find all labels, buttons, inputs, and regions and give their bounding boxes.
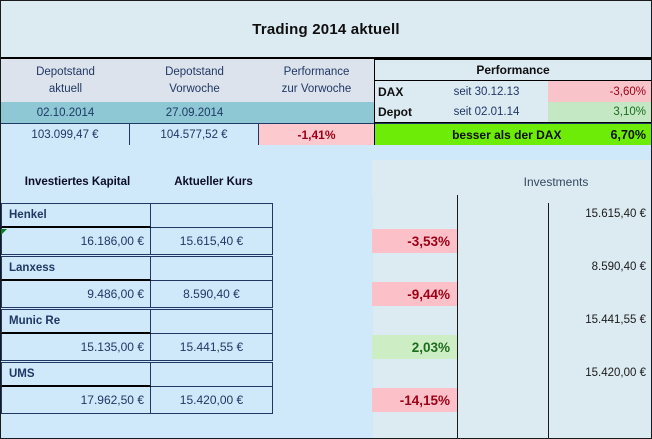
table-header-current-price: Aktueller Kurs [153,160,274,203]
performance-row-pct: 3,10% [548,102,651,122]
table-row[interactable]: UMS [1,362,151,387]
summary-header-line2: aktuell [49,81,82,98]
table-cell-pct: -9,44% [372,282,457,306]
table-row-blank [151,256,273,281]
table-header-row: Investiertes Kapital Aktueller Kurs Inve… [1,160,651,203]
summary-header-row: Depotstand aktuell Depotstand Vorwoche P… [1,59,374,102]
summary-date-blank [259,102,374,123]
summary-spacer-band-right [374,145,651,160]
table-cell-pct: -14,15% [372,388,457,412]
summary-date-row: 02.10.2014 27.09.2014 [1,102,374,123]
table-cell-investment: 8.590,40 € [551,257,649,277]
summary-header-line2: zur Vorwoche [282,81,352,98]
table-cell-kurs[interactable]: 15.420,00 € [151,387,273,414]
table-row[interactable]: Munic Re [1,309,151,334]
table-cell-invested[interactable]: 16.186,00 € [1,228,151,255]
performance-total-label: besser als der DAX [375,128,611,142]
summary-header-line2: Vorwoche [169,81,220,98]
table-row-blank [151,362,273,387]
table-header-invested: Investiertes Kapital [4,160,151,203]
performance-total-row: besser als der DAX 6,70% [375,123,651,145]
error-indicator-icon [1,229,7,235]
performance-title: Performance [375,60,651,81]
performance-row-pct: -3,60% [548,81,651,102]
table-row[interactable]: Henkel [1,203,151,228]
spreadsheet-canvas: Trading 2014 aktuell Depotstand aktuell … [0,0,652,439]
summary-date-previous: 27.09.2014 [130,102,259,123]
performance-block: Performance DAX seit 30.12.13 -3,60% Dep… [374,59,651,145]
table-header-investments: Investments [461,160,651,203]
table-cell-pct: -3,53% [372,229,457,253]
table-cell-investment: 15.441,55 € [551,310,649,330]
summary-header-depotstand-vorwoche: Depotstand Vorwoche [130,59,259,102]
summary-date-current: 02.10.2014 [1,102,130,123]
summary-value-current: 103.099,47 € [1,124,130,146]
table-cell-kurs[interactable]: 15.615,40 € [151,228,273,255]
table-cell-invested[interactable]: 17.962,50 € [1,387,151,414]
table-row-blank [151,309,273,334]
summary-block: Depotstand aktuell Depotstand Vorwoche P… [1,59,374,145]
summary-header-line1: Depotstand [165,64,224,81]
performance-row-since: seit 30.12.13 [425,81,548,102]
table-header-blank-cell [372,160,458,195]
table-cell-investment: 15.420,00 € [551,363,649,383]
sheet-title-band: Trading 2014 aktuell [1,1,651,59]
table-cell-investment: 15.615,40 € [551,204,649,224]
column-divider-right [548,203,549,438]
table-cell-pct: 2,03% [372,335,457,359]
performance-row-depot: Depot seit 02.01.14 3,10% [375,102,651,123]
table-cell-kurs[interactable]: 8.590,40 € [151,281,273,308]
table-cell-invested[interactable]: 15.135,00 € [1,334,151,361]
summary-header-performance-vorwoche: Performance zur Vorwoche [259,59,374,102]
table-row-blank [151,203,273,228]
summary-header-depotstand-aktuell: Depotstand aktuell [1,59,130,102]
performance-total-value: 6,70% [611,128,651,142]
performance-row-name: Depot [375,102,425,122]
summary-value-performance: -1,41% [259,124,374,146]
performance-row-since: seit 02.01.14 [425,102,548,122]
summary-header-line1: Depotstand [36,64,95,81]
performance-row-name: DAX [375,81,425,102]
summary-value-row: 103.099,47 € 104.577,52 € -1,41% [1,123,374,146]
summary-value-previous: 104.577,52 € [130,124,259,146]
performance-row-dax: DAX seit 30.12.13 -3,60% [375,81,651,102]
table-row[interactable]: Lanxess [1,256,151,281]
page-title: Trading 2014 aktuell [252,21,399,38]
table-cell-kurs[interactable]: 15.441,55 € [151,334,273,361]
table-cell-invested[interactable]: 9.486,00 € [1,281,151,308]
summary-header-line1: Performance [284,64,350,81]
